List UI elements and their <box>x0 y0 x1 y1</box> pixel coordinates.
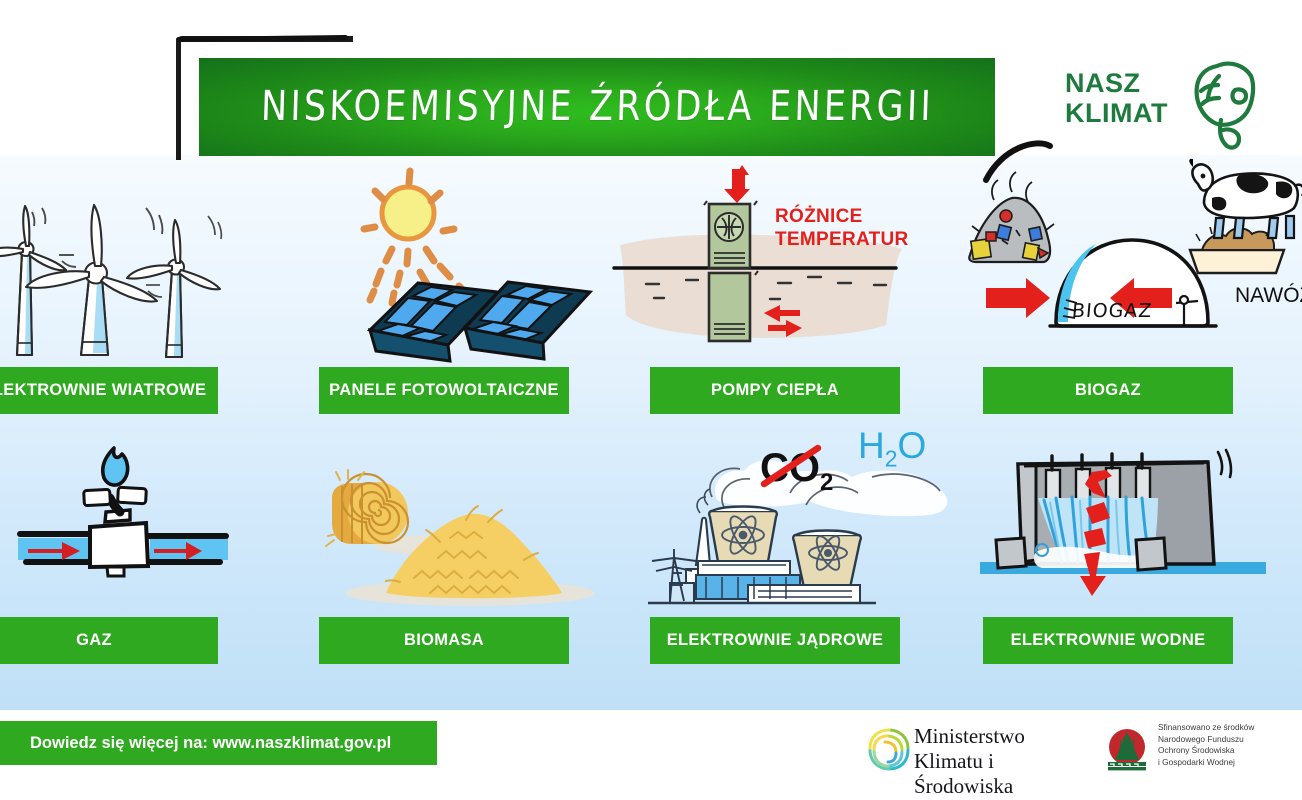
gas-valve-icon <box>0 430 250 610</box>
infographic-poster: NISKOEMISYJNE ŹRÓDŁA ENERGII NASZ KLIMAT <box>0 0 1302 800</box>
nfosigw-line-4: i Gospodarki Wodnej <box>1158 757 1254 769</box>
label-wind-text: ELEKTROWNIE WIATROWE <box>0 381 206 400</box>
ministry-logo: Ministerstwo Klimatu i Środowiska <box>866 720 1096 780</box>
hay-bale-icon <box>300 450 600 620</box>
nfosigw-line-2: Narodowego Funduszu <box>1158 734 1254 746</box>
label-nuclear[interactable]: ELEKTROWNIE JĄDROWE <box>650 617 900 664</box>
solar-panels-icon <box>330 165 610 365</box>
label-pv[interactable]: PANELE FOTOWOLTAICZNE <box>319 367 569 414</box>
co2-strikethrough-icon <box>758 442 830 492</box>
nfosigw-line-3: Ochrony Środowiska <box>1158 745 1254 757</box>
ministry-text: Ministerstwo Klimatu i Środowiska <box>914 724 1096 799</box>
label-hydro-text: ELEKTROWNIE WODNE <box>1011 631 1206 650</box>
ministry-line-2: Klimatu i Środowiska <box>914 749 1096 799</box>
label-biogas[interactable]: BIOGAZ <box>983 367 1233 414</box>
ministry-swirl-icon <box>866 724 912 774</box>
heat-pump-annotation-line-1: RÓŻNICE <box>775 205 909 228</box>
h2o-tail: O <box>898 425 927 466</box>
heat-pump-annotation-line-2: TEMPERATUR <box>775 228 909 251</box>
heat-pump-annotation: RÓŻNICE TEMPERATUR <box>775 205 909 251</box>
label-gas-text: GAZ <box>76 631 112 650</box>
nfosigw-emblem-icon <box>1102 726 1152 774</box>
label-gas[interactable]: GAZ <box>0 617 218 664</box>
label-heat[interactable]: POMPY CIEPŁA <box>650 367 900 414</box>
label-biogas-text: BIOGAZ <box>1075 381 1141 400</box>
logo-line-2: KLIMAT <box>1065 98 1168 128</box>
cta-text: Dowiedz się więcej na: www.naszklimat.go… <box>30 734 391 753</box>
page-title: NISKOEMISYJNE ŹRÓDŁA ENERGII <box>260 83 934 130</box>
h2o-label: H2O <box>858 425 926 472</box>
hydro-dam-icon <box>980 440 1270 610</box>
label-hydro[interactable]: ELEKTROWNIE WODNE <box>983 617 1233 664</box>
heat-pump-icon <box>610 165 920 365</box>
label-pv-text: PANELE FOTOWOLTAICZNE <box>329 381 559 400</box>
label-nuclear-text: ELEKTROWNIE JĄDROWE <box>667 631 884 650</box>
label-biomass-text: BIOMASA <box>404 631 484 650</box>
ministry-line-1: Ministerstwo <box>914 724 1096 749</box>
biogas-dome-icon <box>950 140 1302 365</box>
title-banner: NISKOEMISYJNE ŹRÓDŁA ENERGII <box>199 58 995 156</box>
cta-bar[interactable]: Dowiedz się więcej na: www.naszklimat.go… <box>0 721 437 765</box>
h2o-sub: 2 <box>885 445 898 471</box>
logo-line-1: NASZ <box>1065 68 1168 98</box>
label-wind[interactable]: ELEKTROWNIE WIATROWE <box>0 367 218 414</box>
wind-turbines-icon <box>0 160 230 365</box>
logo-text: NASZ KLIMAT <box>1065 68 1168 128</box>
manure-label: NAWÓZ <box>1235 284 1302 308</box>
label-heat-text: POMPY CIEPŁA <box>711 381 839 400</box>
biogas-dome-label: BIOGAZ <box>1071 300 1153 322</box>
nfosigw-line-1: Sfinansowano ze środków <box>1158 722 1254 734</box>
label-biomass[interactable]: BIOMASA <box>319 617 569 664</box>
h2o-main: H <box>858 425 885 466</box>
nfosigw-text: Sfinansowano ze środków Narodowego Fundu… <box>1158 722 1254 768</box>
nfosigw-logo: Sfinansowano ze środków Narodowego Fundu… <box>1100 722 1295 778</box>
